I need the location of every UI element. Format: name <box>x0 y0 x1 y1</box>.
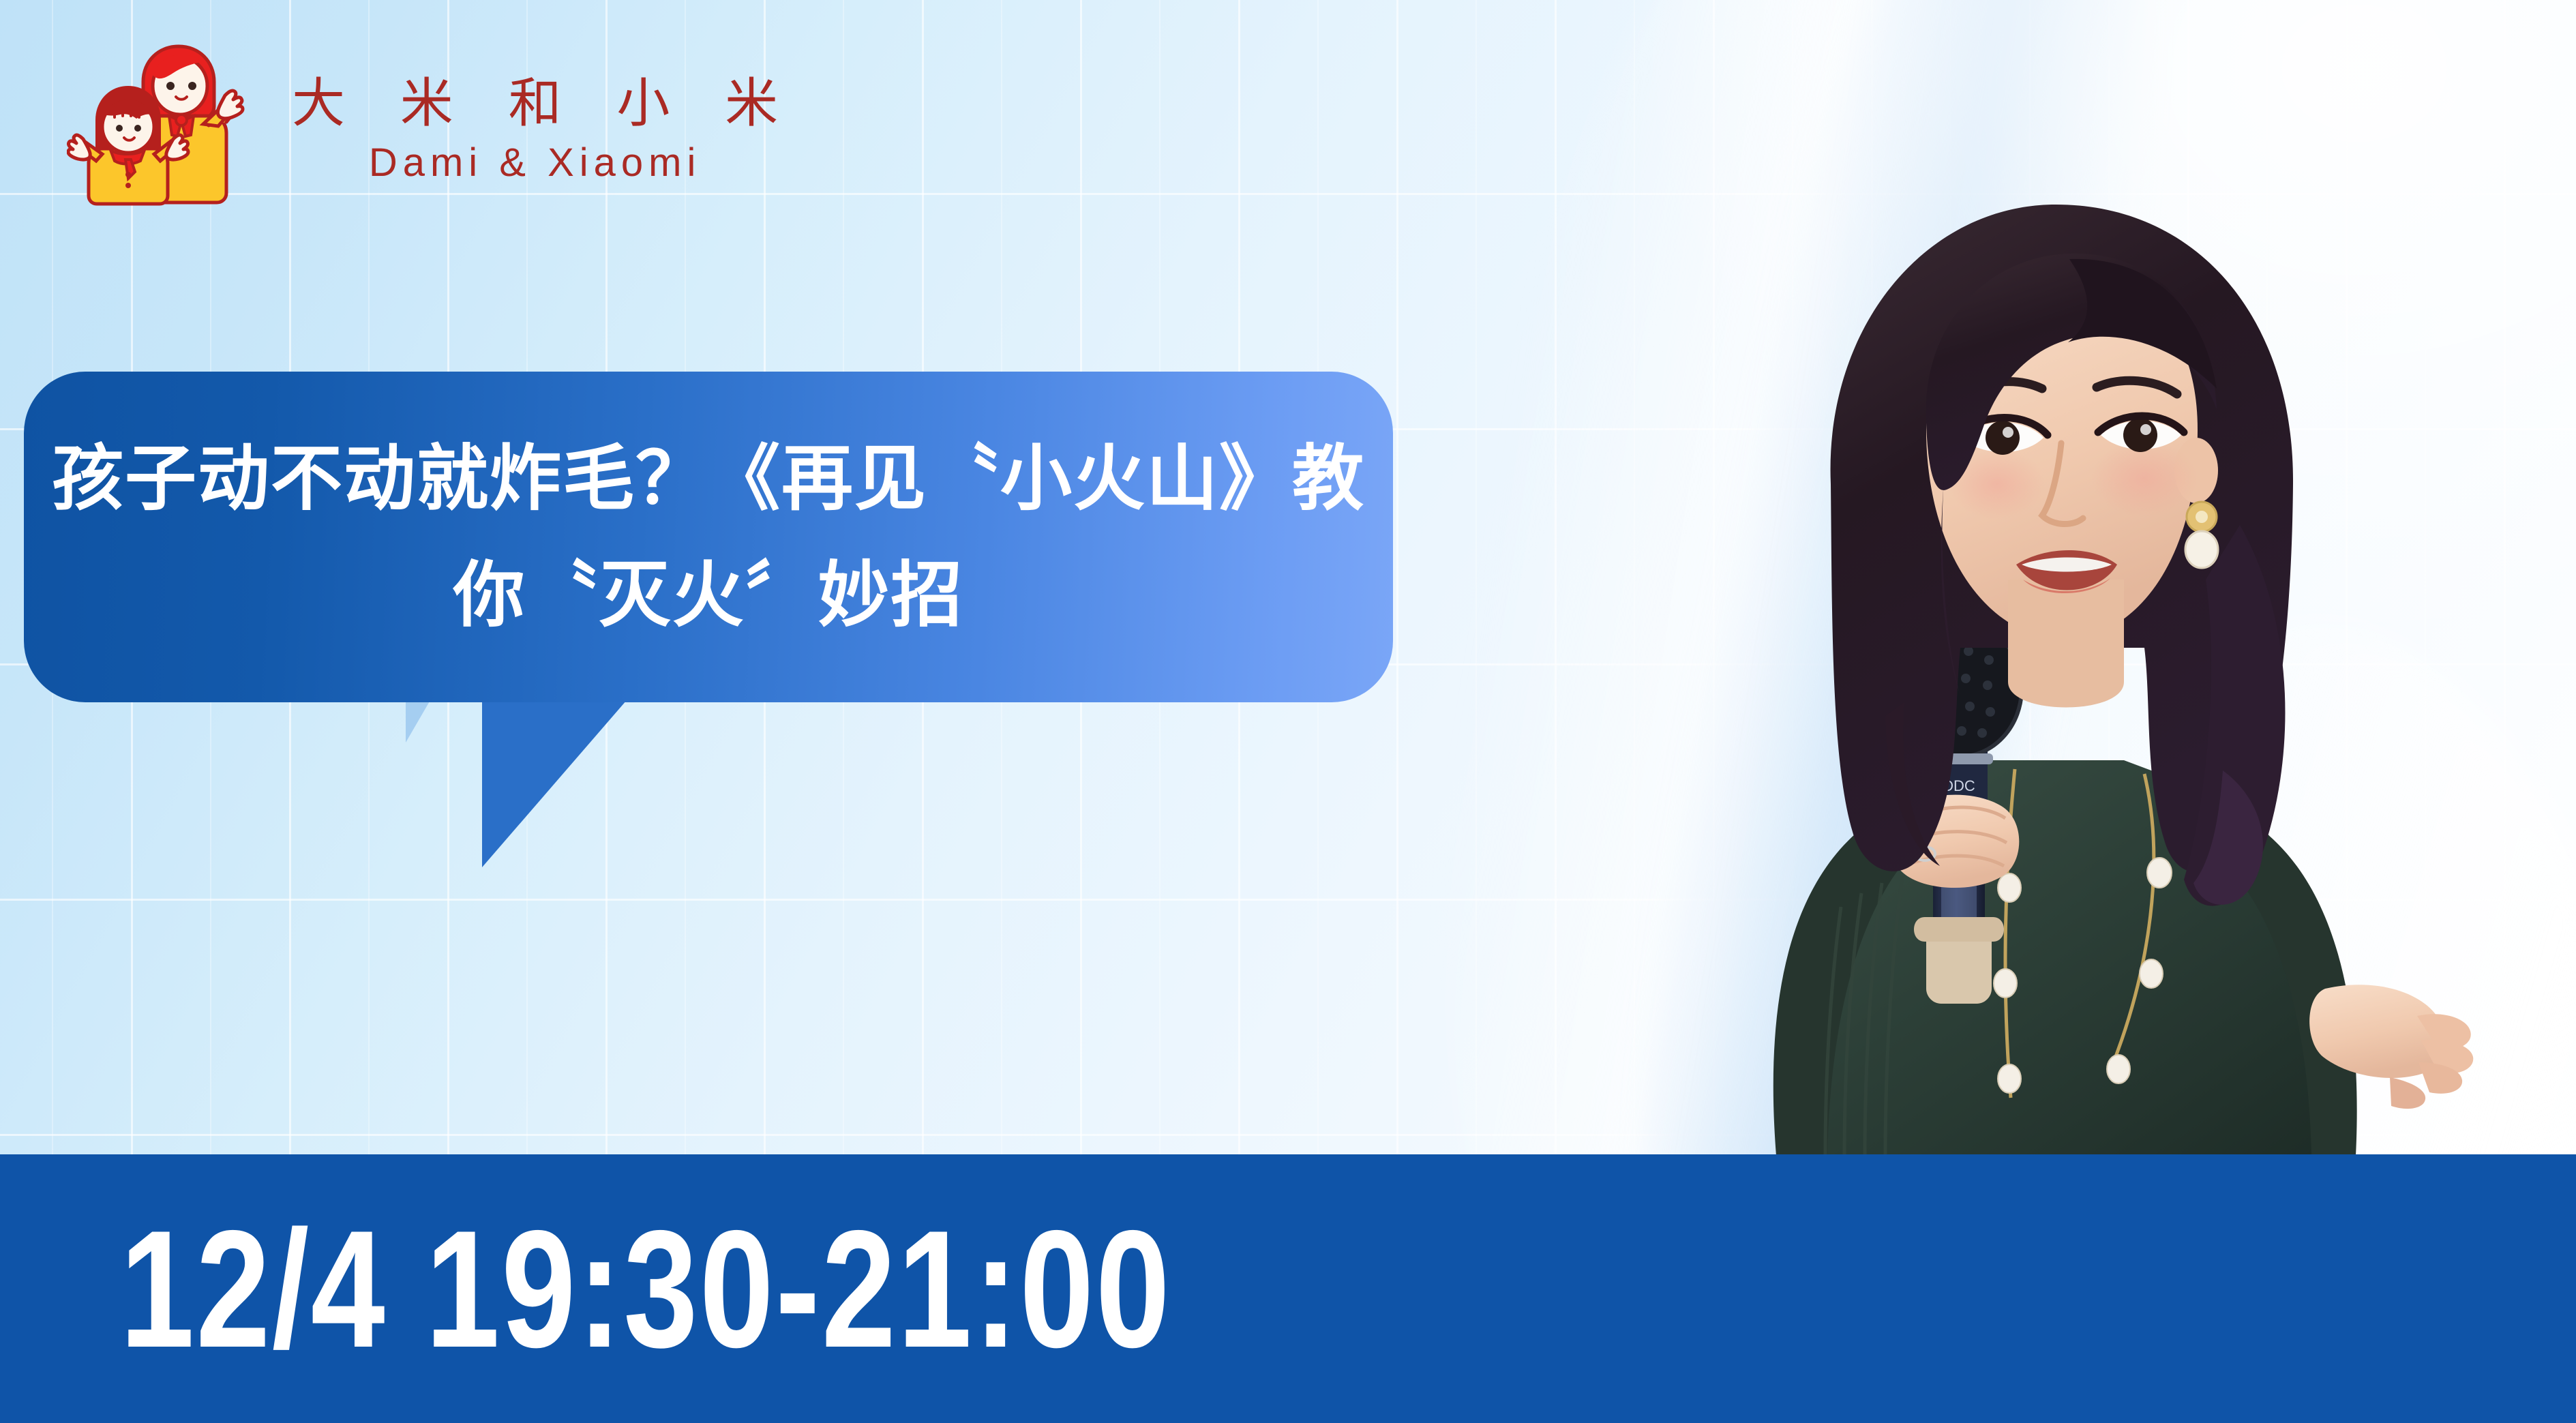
speaker-portrait: DDC <box>1606 102 2492 1156</box>
two-children-mascot-icon <box>67 40 245 210</box>
headline-speech-bubble: 孩子动不动就炸毛？《再见〝小火山》教 你〝灭火〞妙招 <box>24 372 1393 702</box>
speech-bubble-tail-shadow <box>406 700 430 743</box>
brand-name-block: 大 米 和 小 米 Dami & Xiaomi <box>273 64 797 186</box>
brand-logo: 大 米 和 小 米 Dami & Xiaomi <box>67 40 797 210</box>
speech-bubble-body: 孩子动不动就炸毛？《再见〝小火山》教 你〝灭火〞妙招 <box>24 372 1393 702</box>
schedule-datetime: 12/4 19:30-21:00 <box>120 1205 1171 1373</box>
schedule-bar: 12/4 19:30-21:00 <box>0 1154 2576 1423</box>
speech-bubble-tail <box>482 700 627 867</box>
headline-line-2: 你〝灭火〞妙招 <box>453 537 963 653</box>
brand-name-english: Dami & Xiaomi <box>369 140 702 185</box>
headline-line-1: 孩子动不动就炸毛？《再见〝小火山》教 <box>52 421 1365 537</box>
promo-banner: 大 米 和 小 米 Dami & Xiaomi 孩子动不动就炸毛？《再见〝小火山… <box>0 0 2576 1423</box>
brand-name-chinese: 大 米 和 小 米 <box>273 76 797 132</box>
